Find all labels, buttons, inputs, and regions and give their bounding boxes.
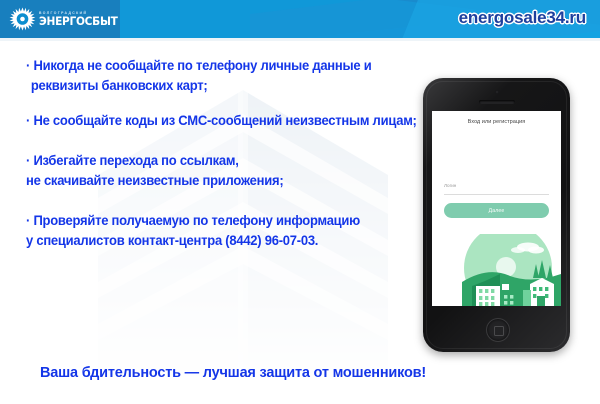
bullet-4-line-2: у специалистов контакт-центра (8442) 96-… <box>26 231 424 251</box>
bullet-4-line-1: · Проверяйте получаемую по телефону инфо… <box>26 211 424 231</box>
continue-button[interactable]: Далее <box>444 203 549 218</box>
list-item: · Проверяйте получаемую по телефону инфо… <box>26 211 436 251</box>
green-city-landscape-illustration <box>432 234 561 306</box>
bullet-1-line-1: · Никогда не сообщайте по телефону личны… <box>26 56 424 76</box>
site-url[interactable]: energosale34.ru <box>459 8 586 28</box>
login-input-label: Логин <box>444 183 549 188</box>
home-button-icon[interactable] <box>486 318 510 342</box>
sunburst-gear-icon <box>8 6 38 34</box>
bullet-1-line-2: реквизиты банковских карт; <box>26 76 424 96</box>
bullet-2-line-1: · Не сообщайте коды из СМС-сообщений неи… <box>26 111 424 131</box>
screen-title: Вход или регистрация <box>432 119 561 125</box>
bullet-3-line-1: · Избегайте перехода по ссылкам, <box>26 151 424 171</box>
tagline: Ваша бдительность — лучшая защита от мош… <box>40 365 426 381</box>
logo-wordmark: ЭНЕРГОСБЫТ <box>39 16 118 28</box>
phone-screen: Вход или регистрация Логин Далее <box>432 111 561 306</box>
bullet-3-line-2: не скачивайте неизвестные приложения; <box>26 171 424 191</box>
safety-tips-list: · Никогда не сообщайте по телефону личны… <box>26 56 436 251</box>
logo-text-group: ВОЛГОГРАДСКИЙ ЭНЕРГОСБЫТ <box>39 12 124 28</box>
home-button-square <box>494 326 504 336</box>
spacer-3 <box>26 191 436 211</box>
spacer-1 <box>26 96 436 111</box>
poster: ВОЛГОГРАДСКИЙ ЭНЕРГОСБЫТ energosale34.ru <box>0 0 600 404</box>
continue-button-label: Далее <box>489 208 505 214</box>
earpiece-speaker-icon <box>479 100 515 104</box>
list-item: · Избегайте перехода по ссылкам, не скач… <box>26 151 436 191</box>
login-input-underline <box>444 194 549 195</box>
company-logo[interactable]: ВОЛГОГРАДСКИЙ ЭНЕРГОСБЫТ <box>8 5 120 35</box>
login-input[interactable]: Логин <box>444 183 549 195</box>
list-item: · Никогда не сообщайте по телефону личны… <box>26 56 436 96</box>
front-camera-icon <box>495 90 499 94</box>
spacer-2 <box>26 131 436 151</box>
smartphone-mockup: Вход или регистрация Логин Далее <box>423 78 570 352</box>
header-underline <box>0 38 600 41</box>
list-item: · Не сообщайте коды из СМС-сообщений неи… <box>26 111 436 131</box>
